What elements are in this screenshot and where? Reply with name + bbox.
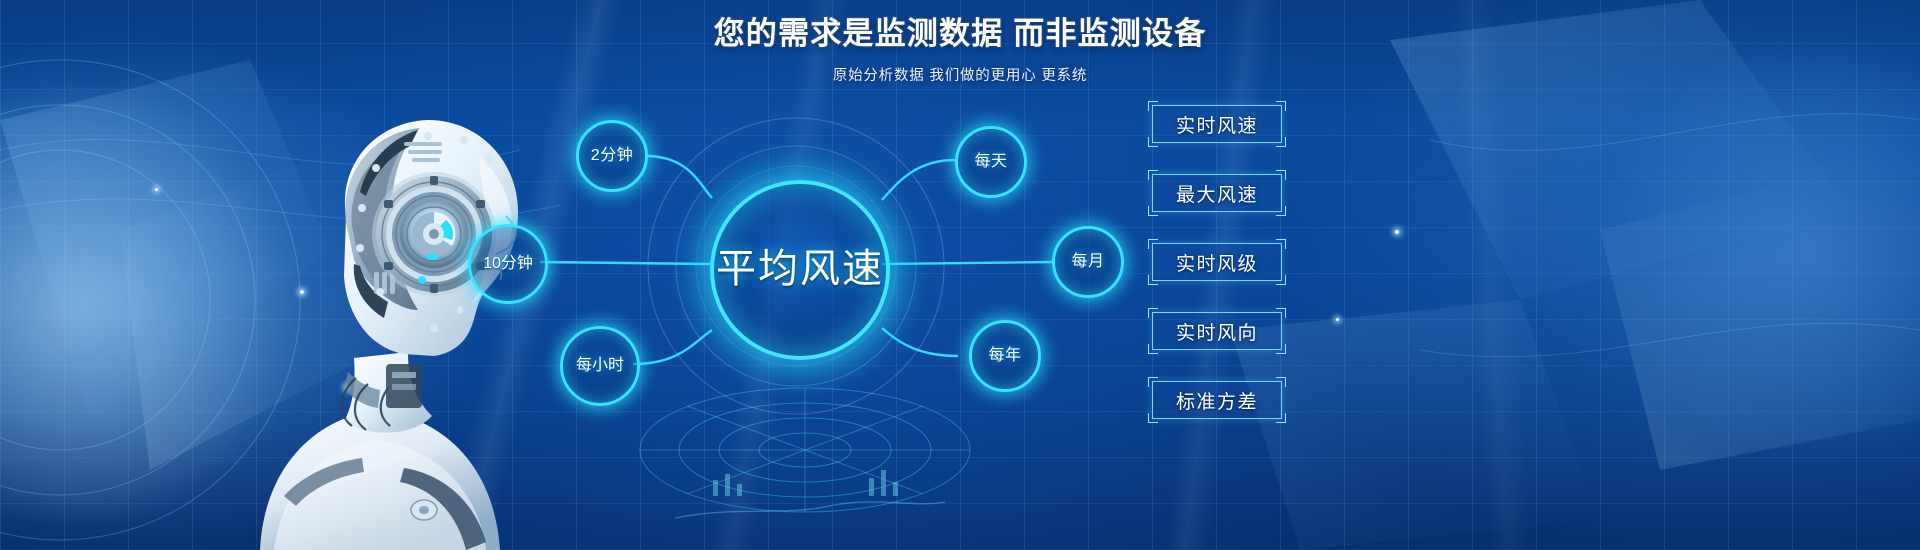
corner-bracket-icon xyxy=(1276,206,1286,216)
corner-bracket-icon xyxy=(1148,239,1158,249)
corner-bracket-icon xyxy=(1276,101,1286,111)
page-subtitle: 原始分析数据 我们做的更用心 更系统 xyxy=(0,69,1920,84)
corner-bracket-icon xyxy=(1276,239,1286,249)
sparkle-dot xyxy=(155,188,158,191)
corner-bracket-icon xyxy=(1148,377,1158,387)
metric-chip-realtime-wind-scale[interactable]: 实时风级 xyxy=(1152,243,1282,281)
corner-bracket-icon xyxy=(1148,206,1158,216)
metric-chip-label: 实时风速 xyxy=(1176,111,1258,138)
node-2-minutes[interactable]: 2分钟 xyxy=(576,120,648,192)
corner-bracket-icon xyxy=(1276,137,1286,147)
node-monthly[interactable]: 每月 xyxy=(1052,226,1124,298)
metric-chip-label: 最大风速 xyxy=(1176,180,1258,207)
metric-chip-max-wind-speed[interactable]: 最大风速 xyxy=(1152,174,1282,212)
center-node-label: 平均风速 xyxy=(716,248,884,291)
node-daily[interactable]: 每天 xyxy=(955,126,1027,198)
node-label: 每年 xyxy=(988,347,1021,365)
metric-chip-list: 实时风速 最大风速 实时风级 实时风向 标准方差 xyxy=(1152,105,1282,450)
corner-bracket-icon xyxy=(1276,170,1286,180)
node-yearly[interactable]: 每年 xyxy=(969,320,1041,392)
node-10-minutes[interactable]: 10分钟 xyxy=(468,224,548,304)
node-label: 10分钟 xyxy=(483,255,533,273)
corner-bracket-icon xyxy=(1148,137,1158,147)
metric-chip-label: 实时风级 xyxy=(1176,249,1258,276)
background-glow-right xyxy=(1580,40,1920,460)
corner-bracket-icon xyxy=(1148,308,1158,318)
center-node[interactable]: 平均风速 xyxy=(710,180,890,360)
wind-monitoring-banner: 您的需求是监测数据 而非监测设备 原始分析数据 我们做的更用心 更系统 xyxy=(0,0,1920,550)
corner-bracket-icon xyxy=(1276,275,1286,285)
metric-chip-realtime-wind-direction[interactable]: 实时风向 xyxy=(1152,312,1282,350)
corner-bracket-icon xyxy=(1276,377,1286,387)
sparkle-dot xyxy=(1395,230,1399,234)
banner-headings: 您的需求是监测数据 而非监测设备 原始分析数据 我们做的更用心 更系统 xyxy=(0,0,1920,84)
page-title: 您的需求是监测数据 而非监测设备 xyxy=(0,18,1920,49)
corner-bracket-icon xyxy=(1148,413,1158,423)
node-hourly[interactable]: 每小时 xyxy=(560,326,640,406)
corner-bracket-icon xyxy=(1148,101,1158,111)
metric-chip-label: 标准方差 xyxy=(1176,387,1258,414)
node-label: 每小时 xyxy=(576,357,624,375)
corner-bracket-icon xyxy=(1276,308,1286,318)
mindmap: 平均风速 2分钟 10分钟 每小时 每天 每月 每年 xyxy=(430,90,1190,490)
metric-chip-realtime-wind-speed[interactable]: 实时风速 xyxy=(1152,105,1282,143)
corner-bracket-icon xyxy=(1148,344,1158,354)
sparkle-dot xyxy=(1336,318,1339,321)
corner-bracket-icon xyxy=(1148,275,1158,285)
node-label: 每天 xyxy=(974,153,1007,171)
node-label: 2分钟 xyxy=(591,147,633,165)
corner-bracket-icon xyxy=(1276,413,1286,423)
corner-bracket-icon xyxy=(1148,170,1158,180)
corner-bracket-icon xyxy=(1276,344,1286,354)
metric-chip-label: 实时风向 xyxy=(1176,318,1258,345)
metric-chip-standard-deviation[interactable]: 标准方差 xyxy=(1152,381,1282,419)
node-label: 每月 xyxy=(1071,253,1104,271)
